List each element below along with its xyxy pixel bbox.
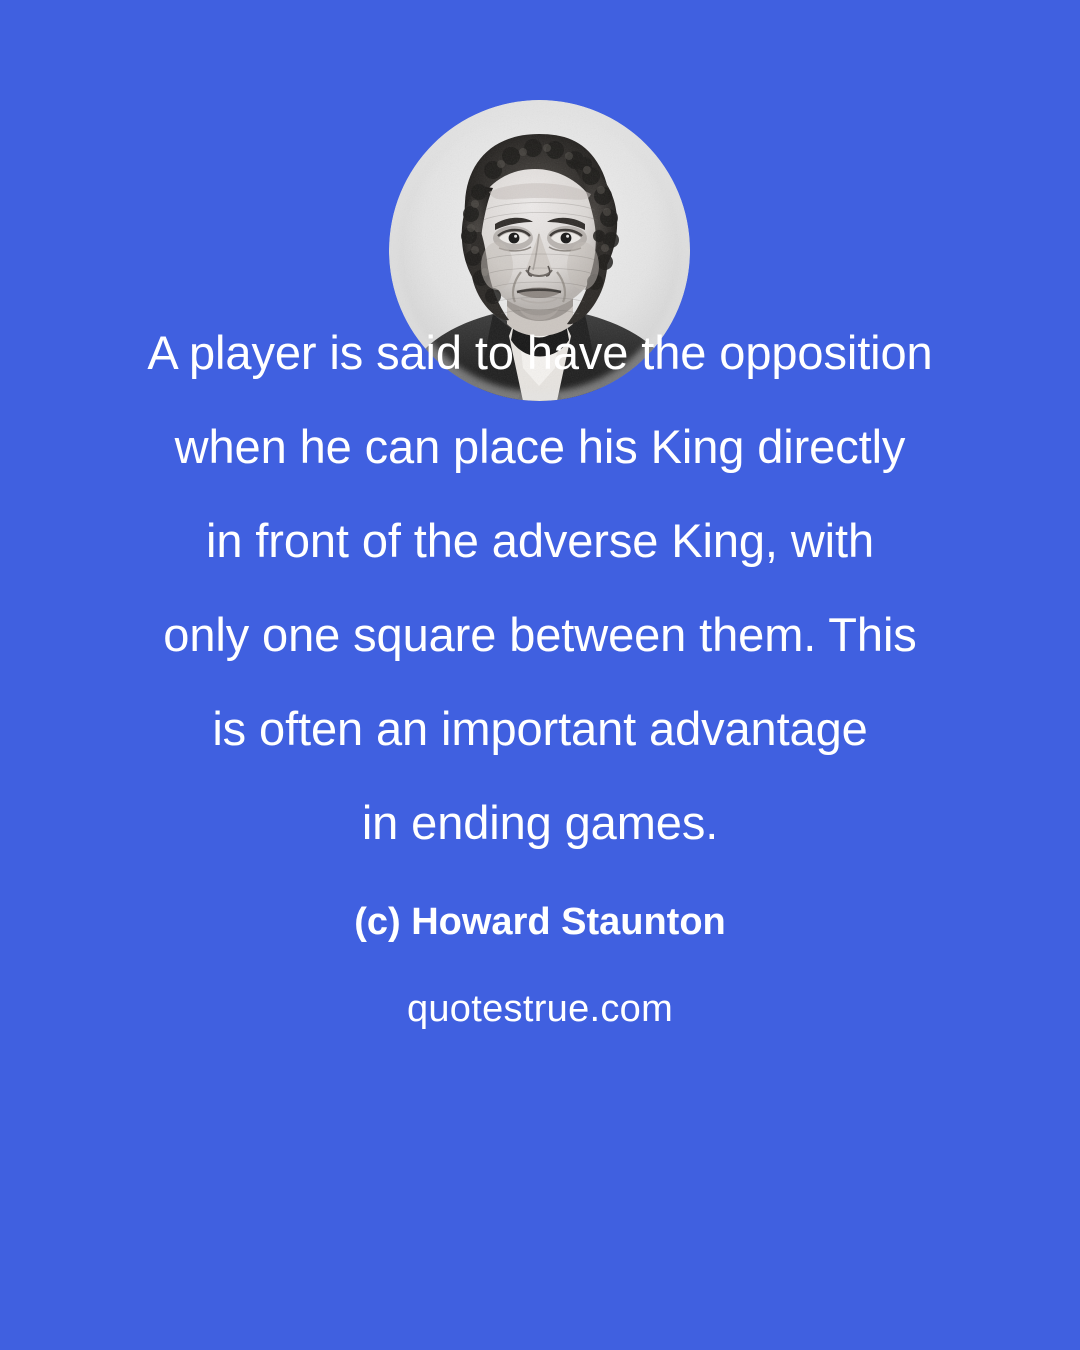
quote-line: in front of the adverse King, with [0,494,1080,588]
author-attribution: (c) Howard Staunton [0,898,1080,946]
quote-line: when he can place his King directly [0,400,1080,494]
quote-line: in ending games. [0,776,1080,870]
quote-line: A player is said to have the opposition [0,306,1080,400]
quote-text: A player is said to have the opposition … [0,306,1080,870]
quote-card: A player is said to have the opposition … [0,0,1080,1350]
quote-line: only one square between them. This [0,588,1080,682]
quote-line: is often an important advantage [0,682,1080,776]
website-credit: quotestrue.com [0,985,1080,1033]
